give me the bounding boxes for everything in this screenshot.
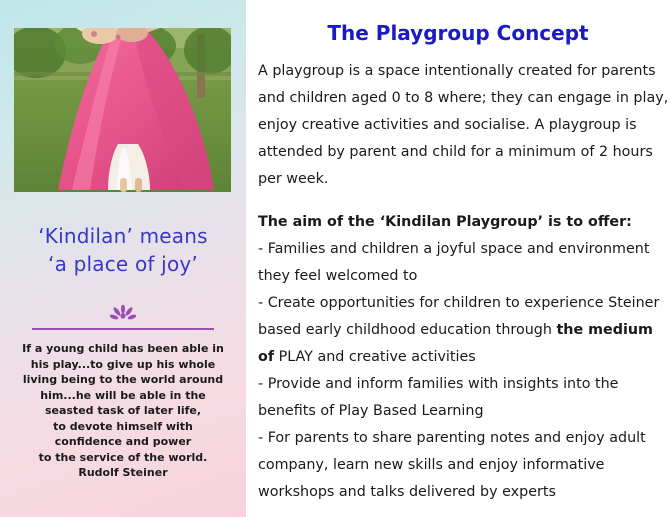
kindilan-title: ‘Kindilan’ means ‘a place of joy’ bbox=[0, 222, 246, 278]
divider-rule bbox=[32, 328, 214, 330]
quote-author: Rudolf Steiner bbox=[10, 465, 236, 481]
quote-line-6: confidence and power bbox=[10, 434, 236, 450]
body-text: A playgroup is a space intentionally cre… bbox=[258, 58, 670, 506]
divider bbox=[0, 305, 246, 330]
quote-line-0: If a young child has been able in bbox=[10, 341, 236, 357]
aim-heading: The aim of the ‘Kindilan Playgroup’ is t… bbox=[258, 209, 670, 236]
left-panel: ‘Kindilan’ means ‘a place of joy’ If a y… bbox=[0, 0, 246, 517]
poster-page: ‘Kindilan’ means ‘a place of joy’ If a y… bbox=[0, 0, 670, 517]
quote-line-5: to devote himself with bbox=[10, 419, 236, 435]
bullet-4: - For parents to share parenting notes a… bbox=[258, 425, 670, 506]
kindilan-title-line2: ‘a place of joy’ bbox=[0, 250, 246, 278]
flower-icon bbox=[110, 305, 136, 325]
bullet-2: - Create opportunities for children to e… bbox=[258, 290, 670, 371]
quote-line-7: to the service of the world. bbox=[10, 450, 236, 466]
quote-line-2: living being to the world around bbox=[10, 372, 236, 388]
right-panel: The Playgroup Concept A playgroup is a s… bbox=[246, 0, 670, 517]
paragraph-spacer bbox=[258, 193, 670, 209]
bullet-3: - Provide and inform families with insig… bbox=[258, 371, 670, 425]
steiner-quote: If a young child has been able in his pl… bbox=[10, 341, 236, 481]
bullet-2-tail: PLAY and creative activities bbox=[274, 349, 476, 365]
quote-line-1: his play...to give up his whole bbox=[10, 357, 236, 373]
page-title: The Playgroup Concept bbox=[246, 20, 670, 46]
quote-line-3: him...he will be able in the bbox=[10, 388, 236, 404]
playgroup-photo bbox=[14, 28, 231, 192]
quote-line-4: seasted task of later life, bbox=[10, 403, 236, 419]
intro-paragraph: A playgroup is a space intentionally cre… bbox=[258, 58, 670, 193]
photo-illustration bbox=[14, 28, 231, 192]
bullet-1: - Families and children a joyful space a… bbox=[258, 236, 670, 290]
kindilan-title-line1: ‘Kindilan’ means bbox=[0, 222, 246, 250]
